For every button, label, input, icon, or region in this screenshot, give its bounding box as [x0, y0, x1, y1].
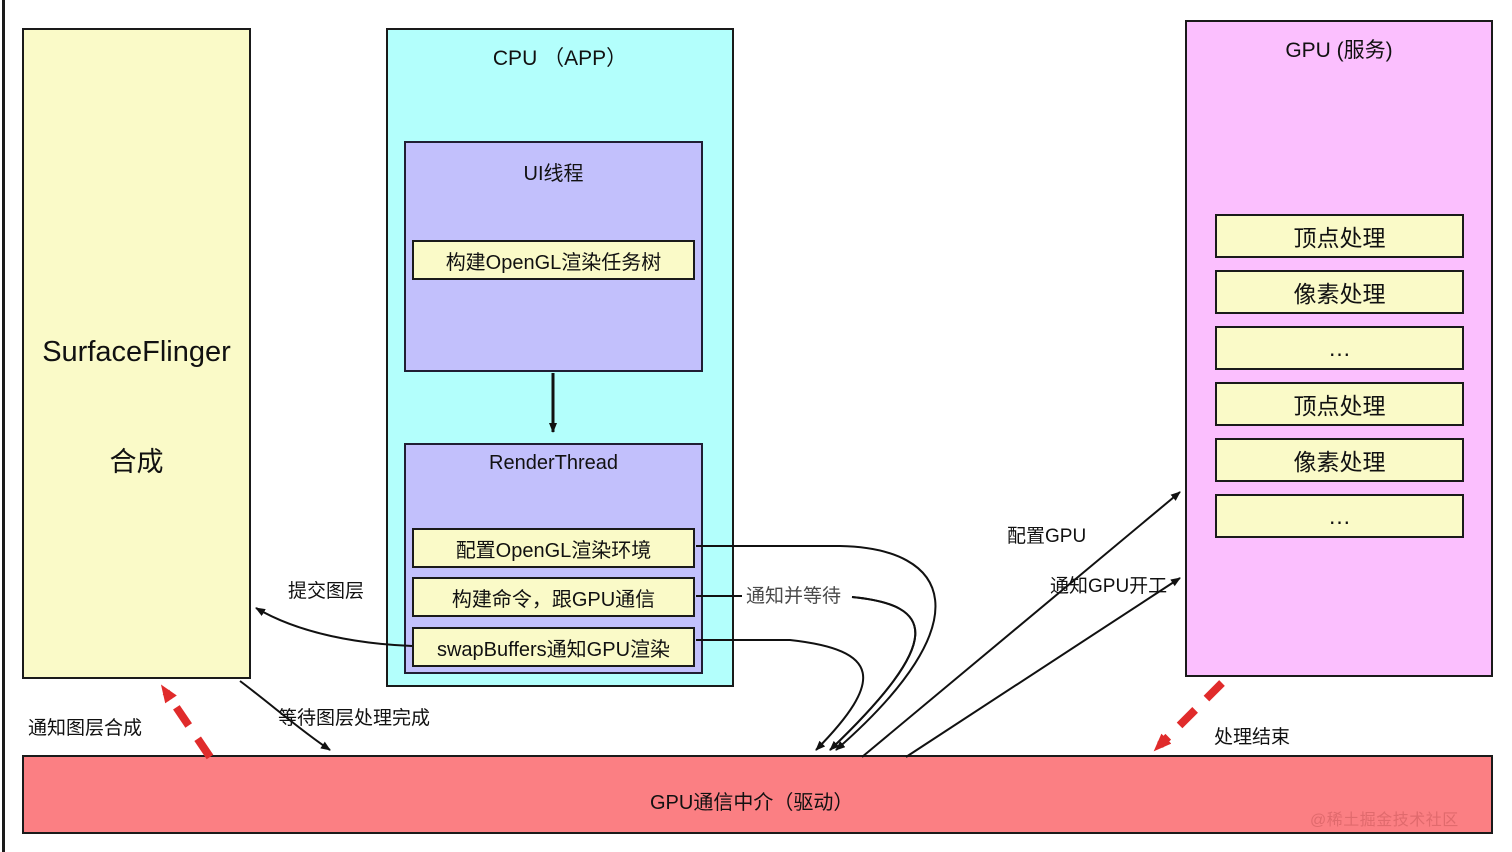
edge-label-notify-layer-compose: 通知图层合成 — [28, 713, 142, 740]
task-config-opengl-env: 配置OpenGL渲染环境 — [412, 528, 695, 568]
watermark-text: @稀土掘金技术社区 — [1310, 806, 1459, 830]
diagram-canvas: SurfaceFlinger 合成 CPU （APP） UI线程 构建OpenG… — [0, 0, 1512, 852]
surfaceflinger-subtitle: 合成 — [22, 440, 251, 479]
gpu-stage-box: 像素处理 — [1215, 438, 1464, 482]
gpu-stage-box: … — [1215, 326, 1464, 370]
task-build-opengl-render-tree: 构建OpenGL渲染任务树 — [412, 240, 695, 280]
gpu-panel-title: GPU (服务) — [1185, 34, 1493, 64]
gpu-stage-box: 顶点处理 — [1215, 382, 1464, 426]
edge-label-notify-and-wait: 通知并等待 — [746, 581, 841, 608]
page-edge-line — [2, 0, 5, 852]
arrow-notify-gpu-start — [906, 578, 1180, 757]
task-build-command-gpu-comm: 构建命令，跟GPU通信 — [412, 577, 695, 617]
edge-label-config-gpu: 配置GPU — [1007, 521, 1086, 548]
edge-label-notify-gpu-start: 通知GPU开工 — [1050, 571, 1167, 598]
arrow-notify-layer-compose — [166, 692, 210, 757]
ui-thread-title: UI线程 — [404, 157, 703, 186]
gpu-stage-box: 顶点处理 — [1215, 214, 1464, 258]
arrow-process-finished — [1160, 683, 1222, 745]
cpu-panel-title: CPU （APP） — [386, 42, 734, 72]
edge-label-wait-layer-done: 等待图层处理完成 — [278, 703, 430, 730]
edge-label-process-finished: 处理结束 — [1214, 722, 1290, 749]
arrow-build-cmd-to-driver — [830, 597, 915, 750]
edge-label-commit-layer: 提交图层 — [288, 576, 364, 603]
surfaceflinger-name: SurfaceFlinger — [22, 336, 251, 369]
render-thread-title: RenderThread — [404, 452, 703, 475]
gpu-driver-label: GPU通信中介（驱动） — [650, 786, 853, 815]
gpu-stage-box: 像素处理 — [1215, 270, 1464, 314]
gpu-stage-box: … — [1215, 494, 1464, 538]
task-swapbuffers-notify-gpu: swapBuffers通知GPU渲染 — [412, 627, 695, 667]
